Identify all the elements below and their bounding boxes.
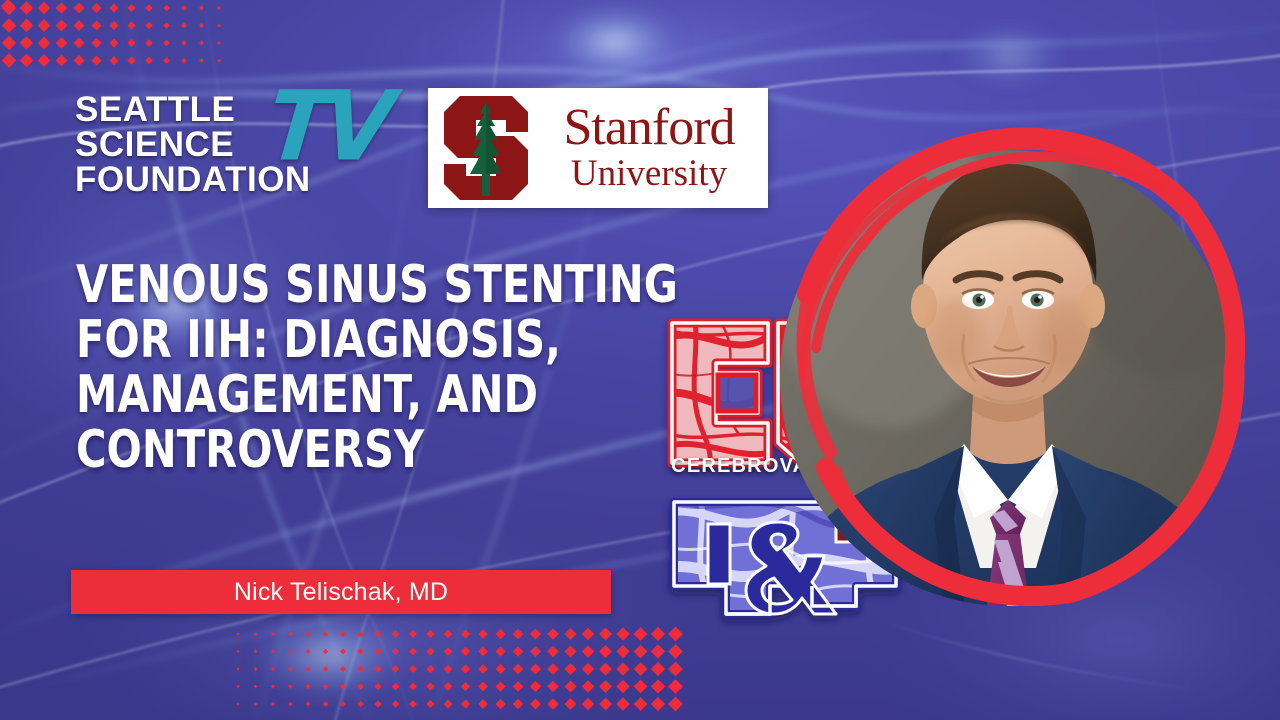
- title-line-2: FOR IIH: DIAGNOSIS,: [76, 313, 572, 368]
- stanford-subtitle: University: [536, 154, 762, 194]
- title-line-4: CONTROVERSY: [76, 423, 572, 478]
- ssf-tv-mark: TV: [263, 79, 392, 175]
- title-line-1: VENOUS SINUS STENTING: [76, 258, 572, 313]
- stanford-block-s-tree-icon: [436, 92, 536, 204]
- stanford-university-logo: Stanford University: [428, 88, 768, 208]
- title-line-3: MANAGEMENT, AND: [76, 368, 572, 423]
- seattle-science-foundation-logo: SEATTLE SCIENCE FOUNDATION TV: [75, 92, 380, 204]
- thumbnail-canvas: SEATTLE SCIENCE FOUNDATION TV Stanford: [0, 0, 1280, 720]
- speaker-name-bar: Nick Telischak, MD: [71, 570, 611, 614]
- page-title: VENOUS SINUS STENTING FOR IIH: DIAGNOSIS…: [76, 258, 572, 478]
- decorative-dots-top-left: [0, 0, 230, 72]
- decorative-dots-bottom: [230, 620, 710, 720]
- speaker-portrait: [768, 48, 1248, 688]
- speaker-name: Nick Telischak, MD: [234, 580, 448, 605]
- stanford-wordmark: Stanford: [536, 102, 762, 154]
